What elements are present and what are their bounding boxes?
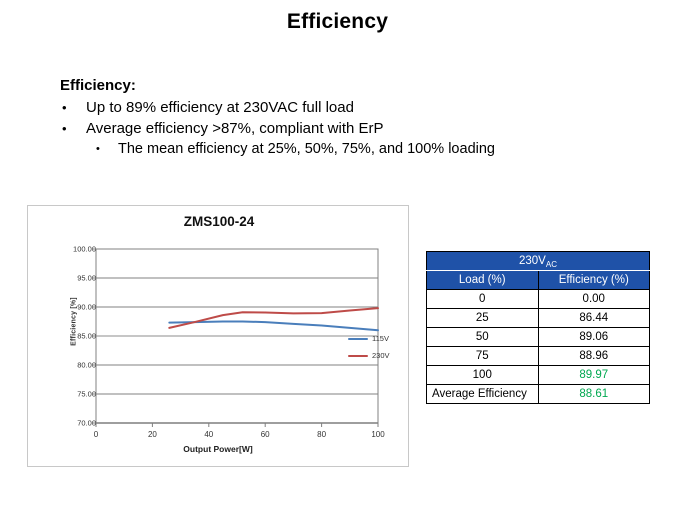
page-title: Efficiency [0,10,675,34]
cell-efficiency: 89.06 [538,328,650,347]
bullet-item-1-text: Up to 89% efficiency at 230VAC full load [86,97,630,118]
table-span-header-row: 230VAC [427,252,650,271]
bullet-block: Efficiency: • Up to 89% efficiency at 23… [60,76,630,160]
cell-load: 100 [427,366,539,385]
bullet-item-3: • The mean efficiency at 25%, 50%, 75%, … [60,139,630,160]
cell-efficiency: 88.96 [538,347,650,366]
table-row: 75 88.96 [427,347,650,366]
bullet-item-1: • Up to 89% efficiency at 230VAC full lo… [60,97,630,118]
table-row: 50 89.06 [427,328,650,347]
table-body: 230VAC Load (%) Efficiency (%) 0 0.00 25… [427,252,650,404]
bullet-item-2-text: Average efficiency >87%, compliant with … [86,118,630,139]
bullet-heading: Efficiency: [60,76,630,95]
legend-swatch-115v [348,338,368,340]
legend-item-230v: 230V [348,347,410,364]
column-header-efficiency: Efficiency (%) [538,271,650,290]
span-header-text: 230V [519,255,546,267]
table-span-header-cell: 230VAC [427,252,650,271]
span-header-subscript: AC [546,260,557,269]
chart-legend: 115V 230V [348,330,410,364]
bullet-marker-icon: • [62,97,86,118]
bullet-item-3-text: The mean efficiency at 25%, 50%, 75%, an… [118,139,630,160]
column-header-load: Load (%) [427,271,539,290]
bullet-marker-icon: • [96,139,118,160]
footer-label: Average Efficiency [427,385,539,404]
table-row: 100 89.97 [427,366,650,385]
table-row: 25 86.44 [427,309,650,328]
cell-load: 50 [427,328,539,347]
table-column-header-row: Load (%) Efficiency (%) [427,271,650,290]
table-footer-row: Average Efficiency 88.61 [427,385,650,404]
cell-load: 75 [427,347,539,366]
cell-efficiency-highlight: 89.97 [538,366,650,385]
bullet-item-2: • Average efficiency >87%, compliant wit… [60,118,630,139]
legend-swatch-230v [348,355,368,357]
footer-value-highlight: 88.61 [538,385,650,404]
bullet-marker-icon: • [62,118,86,139]
cell-load: 0 [427,290,539,309]
cell-efficiency: 86.44 [538,309,650,328]
cell-efficiency: 0.00 [538,290,650,309]
table-row: 0 0.00 [427,290,650,309]
legend-item-115v: 115V [348,330,410,347]
efficiency-table: 230VAC Load (%) Efficiency (%) 0 0.00 25… [426,251,650,404]
cell-load: 25 [427,309,539,328]
legend-label-115v: 115V [372,334,389,343]
legend-label-230v: 230V [372,351,390,360]
